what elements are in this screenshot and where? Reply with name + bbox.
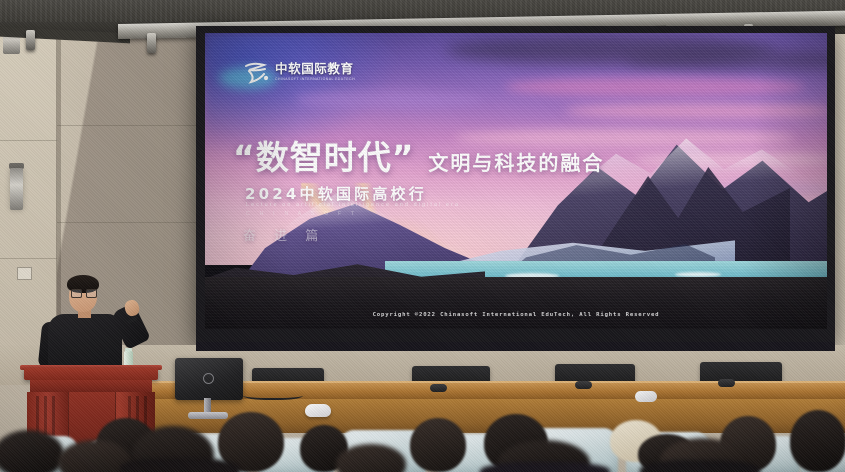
cloud xyxy=(565,103,827,119)
logo-name-en: CHINASOFT INTERNATIONAL EDUTECH xyxy=(275,78,355,82)
audience-shoulders xyxy=(480,462,610,472)
ceiling-lamp-icon xyxy=(26,30,35,50)
eyeglasses-icon xyxy=(71,289,95,296)
ceiling-lamp-icon xyxy=(147,33,156,53)
slide-subtitle-en-secondary: C H I N A S O F T xyxy=(246,211,358,217)
wall-sconce-light xyxy=(10,168,23,210)
dell-circle-logo-icon xyxy=(203,373,214,384)
chinasoft-logo-icon xyxy=(243,61,269,84)
chinasoft-logo: 中软国际教育 CHINASOFT INTERNATIONAL EDUTECH xyxy=(243,61,355,84)
podium-moulding xyxy=(30,380,152,392)
cloud xyxy=(295,91,485,109)
wall-seam xyxy=(0,140,57,141)
desk-microphone-icon[interactable] xyxy=(575,381,592,389)
slide-copyright: Copyright ©2022 Chinasoft International … xyxy=(205,312,827,318)
slide-headline: “数智时代” 文明与科技的融合 xyxy=(233,131,604,179)
monitor-cable xyxy=(243,389,303,400)
computer-mouse-icon[interactable] xyxy=(305,404,331,417)
foreground-dark-band xyxy=(205,277,827,329)
slide-subtitle-en: Lecture on artificial intelligence and d… xyxy=(246,202,460,208)
headline-quoted: “数智时代” xyxy=(233,131,414,179)
headline-tail: 文明与科技的融合 xyxy=(428,147,604,179)
wall-seam xyxy=(0,258,57,259)
wall-seam xyxy=(57,222,202,223)
slide-tagline: 奋 进 篇 xyxy=(243,225,325,244)
audience-shoulders xyxy=(640,460,760,472)
wall-seam xyxy=(57,125,202,126)
cloud xyxy=(505,77,805,97)
slide-subtitle-cn: 2024中软国际高校行 xyxy=(245,183,427,204)
logo-wordmark: 中软国际教育 CHINASOFT INTERNATIONAL EDUTECH xyxy=(275,63,355,81)
projection-screen[interactable]: 中软国际教育 CHINASOFT INTERNATIONAL EDUTECH “… xyxy=(205,33,827,329)
desk-microphone-icon[interactable] xyxy=(430,384,447,392)
monitor-stand-base xyxy=(188,412,228,419)
podium-top xyxy=(24,368,158,380)
computer-mouse-icon[interactable] xyxy=(635,391,657,402)
screen-bottom-frame xyxy=(196,342,835,351)
audience-shoulders xyxy=(120,458,240,472)
audience-head xyxy=(410,418,466,472)
screenshot-root: 中软国际教育 CHINASOFT INTERNATIONAL EDUTECH “… xyxy=(0,0,845,472)
logo-name-cn: 中软国际教育 xyxy=(275,63,355,76)
audience-head xyxy=(790,410,845,472)
light-switch[interactable] xyxy=(17,267,32,280)
desk-microphone-icon[interactable] xyxy=(718,379,735,387)
